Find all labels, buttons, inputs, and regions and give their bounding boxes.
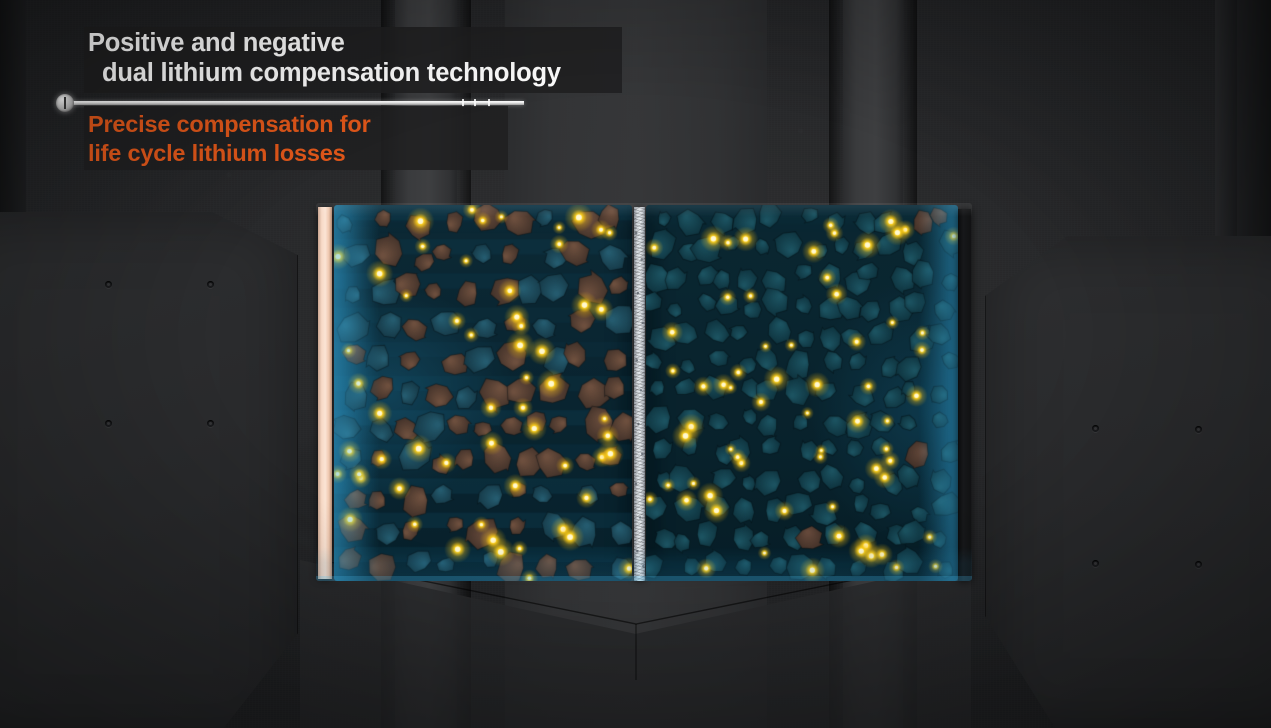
separator-membrane [634, 207, 645, 581]
battery-cell [316, 203, 972, 581]
pause-circle-icon[interactable] [56, 94, 74, 112]
title-line-1: Positive and negative [88, 29, 345, 57]
rivet [1092, 560, 1099, 567]
anode-particles [646, 205, 958, 581]
anode-electrode [646, 205, 958, 581]
rivet [207, 281, 214, 288]
rivet [105, 420, 112, 427]
cathode-particles [334, 205, 632, 581]
page-subtitle: Precise compensation forlife cycle lithi… [88, 110, 528, 167]
background-hex-plate-right [985, 236, 1271, 728]
rivet [1195, 561, 1202, 568]
rivet [1195, 426, 1202, 433]
separator-texture [634, 207, 645, 581]
positive-current-collector [318, 207, 332, 579]
subtitle-line-2: life cycle lithium losses [88, 140, 346, 166]
rivet [1092, 425, 1099, 432]
cathode-electrode [334, 205, 632, 581]
subtitle-line-1: Precise compensation for [88, 111, 371, 137]
rivet [207, 420, 214, 427]
scene-root: Positive and negativedual lithium compen… [0, 0, 1271, 728]
page-title: Positive and negativedual lithium compen… [88, 28, 648, 88]
rivet [105, 281, 112, 288]
background-hex-plate-left [0, 212, 298, 728]
title-line-2: dual lithium compensation technology [88, 58, 648, 88]
negative-current-collector [958, 209, 971, 581]
